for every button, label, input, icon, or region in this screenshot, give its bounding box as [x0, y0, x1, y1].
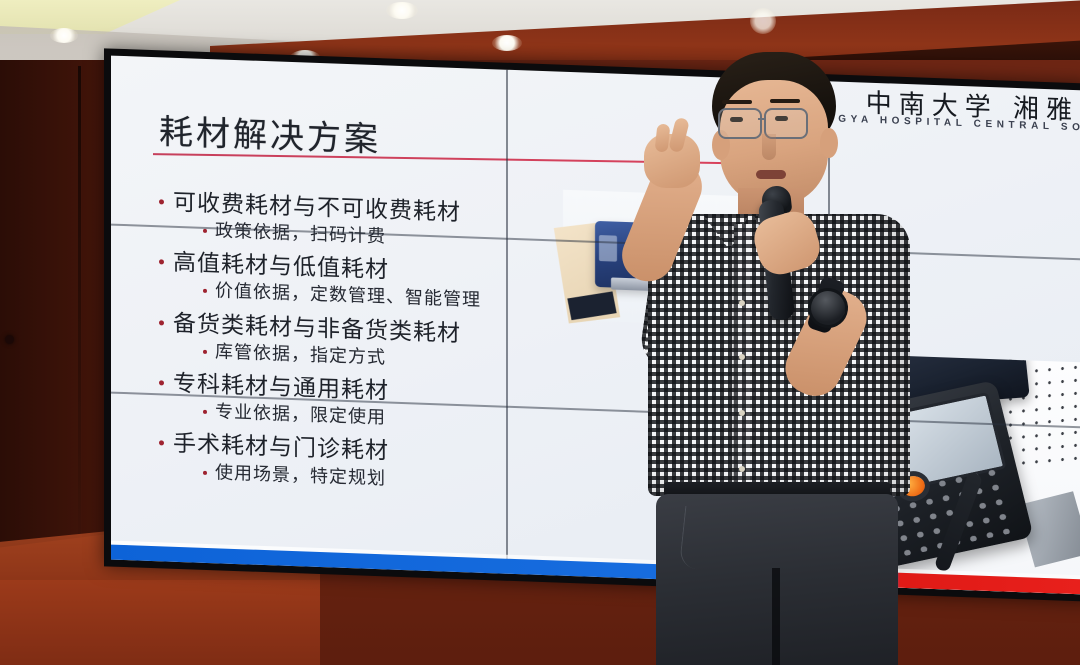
- presenter-ear: [820, 128, 838, 158]
- bullet-dot-icon: [203, 289, 207, 293]
- bullet-dot-icon: [159, 380, 164, 385]
- presenter: [612, 38, 942, 665]
- bullet-dot-icon: [203, 350, 207, 354]
- panel-seam-vertical: [506, 70, 508, 574]
- wall-panel-seam: [78, 66, 81, 566]
- bullet-dot-icon: [159, 260, 164, 265]
- bullet-subtext: 专业依据，限定使用: [215, 401, 386, 428]
- presentation-photo-scene: 耗材解决方案 可收费耗材与不可收费耗材 政策依据，扫码计费 高值耗材与低值耗材: [0, 0, 1080, 665]
- presenter-mouth: [756, 170, 786, 179]
- ceiling-downlight-icon: [750, 8, 776, 34]
- door-knob-icon: [5, 335, 14, 344]
- shirt-placket: [734, 224, 750, 496]
- bullet-dot-icon: [159, 199, 164, 204]
- slide-title: 耗材解决方案: [159, 104, 381, 161]
- shirt-button: [739, 354, 745, 360]
- ceiling-downlight-icon: [386, 2, 418, 19]
- ceiling-downlight-icon: [492, 35, 522, 51]
- trouser-pocket: [679, 506, 730, 572]
- bullet-dot-icon: [159, 441, 164, 446]
- glasses-bridge: [758, 118, 766, 120]
- shirt-button: [739, 466, 745, 472]
- shirt-button: [739, 410, 745, 416]
- trouser-leg-seam: [772, 568, 780, 665]
- glasses-icon: [718, 108, 762, 139]
- bullet-dot-icon: [203, 410, 207, 414]
- presenter-eyebrow: [722, 100, 752, 104]
- bullet-text: 手术耗材与门诊耗材: [173, 430, 389, 465]
- bullet-dot-icon: [159, 320, 164, 325]
- presenter-nose: [762, 134, 776, 160]
- presenter-eyebrow: [770, 99, 800, 103]
- bullet-text: 高值耗材与低值耗材: [173, 249, 389, 284]
- bullet-subtext: 使用场景，特定规划: [215, 462, 386, 489]
- bullet-subtext: 库管依据，指定方式: [215, 341, 386, 368]
- ceiling-downlight-icon: [50, 28, 78, 43]
- shirt-button: [739, 300, 745, 306]
- bullet-dot-icon: [203, 229, 207, 233]
- bullet-dot-icon: [203, 470, 207, 474]
